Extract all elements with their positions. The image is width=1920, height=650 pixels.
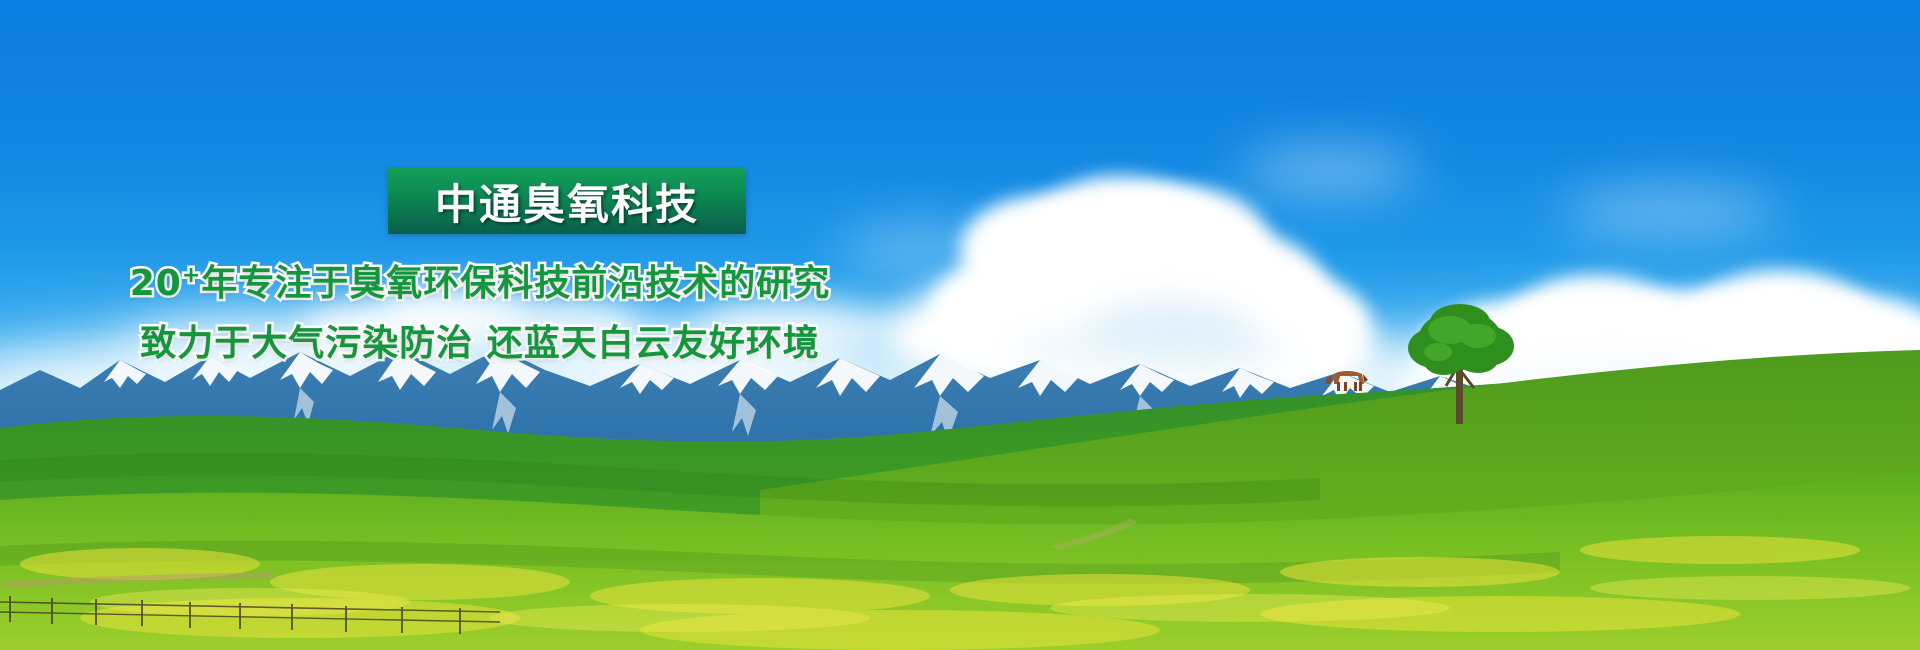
tagline-line-1: 20+年专注于臭氧环保科技前沿技术的研究 (0, 254, 960, 306)
grazing-horse (1320, 362, 1380, 398)
wooden-fence (0, 578, 520, 638)
hero-banner: 中通臭氧科技 20+年专注于臭氧环保科技前沿技术的研究 致力于大气污染防治 还蓝… (0, 0, 1920, 650)
tagline-years-plus: + (182, 263, 201, 288)
meadow (0, 350, 1920, 650)
tagline-line-2: 致力于大气污染防治 还蓝天白云友好环境 (0, 314, 960, 366)
tagline-years-number: 20 (130, 263, 182, 304)
brand-title: 中通臭氧科技 (388, 168, 746, 234)
tagline-line-1-rest: 年专注于臭氧环保科技前沿技术的研究 (201, 263, 830, 304)
brand-badge: 中通臭氧科技 (388, 168, 746, 234)
lone-tree (1380, 300, 1540, 430)
